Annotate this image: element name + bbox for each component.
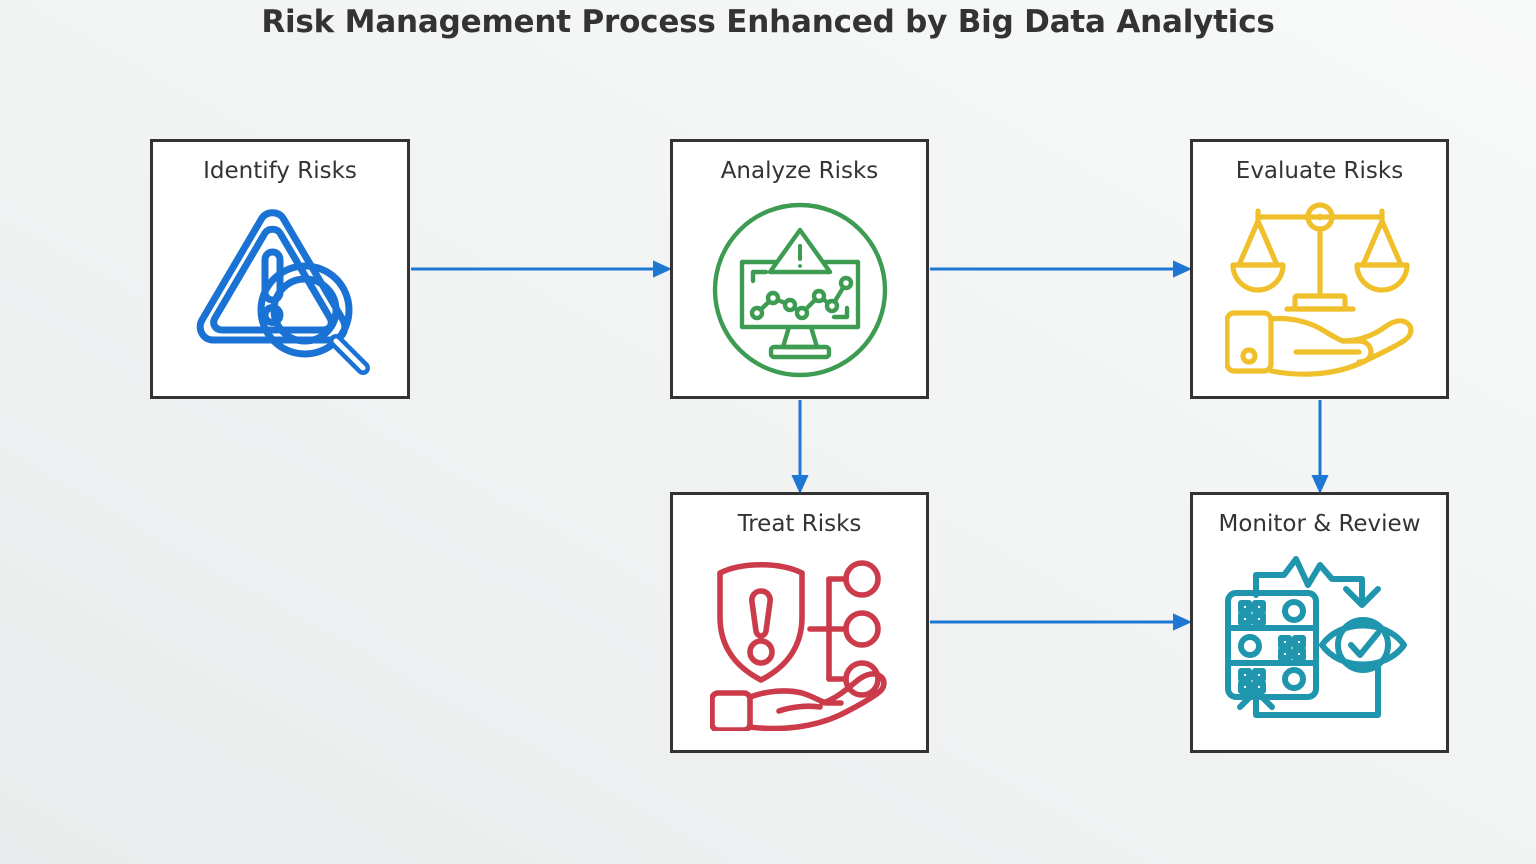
node-evaluate-risks[interactable]: Evaluate Risks xyxy=(1190,139,1449,399)
node-analyze-risks[interactable]: Analyze Risks xyxy=(670,139,929,399)
balance-scales-hand-icon xyxy=(1193,183,1446,396)
node-identify-risks[interactable]: Identify Risks xyxy=(150,139,410,399)
monitor-line-chart-warning-icon xyxy=(673,183,926,396)
server-eye-cycle-icon xyxy=(1193,536,1446,750)
warning-triangle-magnifier-icon xyxy=(153,183,407,396)
node-treat-risks[interactable]: Treat Risks xyxy=(670,492,929,753)
shield-branch-hand-icon xyxy=(673,536,926,750)
node-label: Treat Risks xyxy=(738,513,862,536)
node-label: Identify Risks xyxy=(203,160,357,183)
node-monitor-review[interactable]: Monitor & Review xyxy=(1190,492,1449,753)
node-label: Evaluate Risks xyxy=(1236,160,1403,183)
node-label: Analyze Risks xyxy=(721,160,879,183)
node-label: Monitor & Review xyxy=(1218,513,1420,536)
page-title: Risk Management Process Enhanced by Big … xyxy=(0,4,1536,40)
